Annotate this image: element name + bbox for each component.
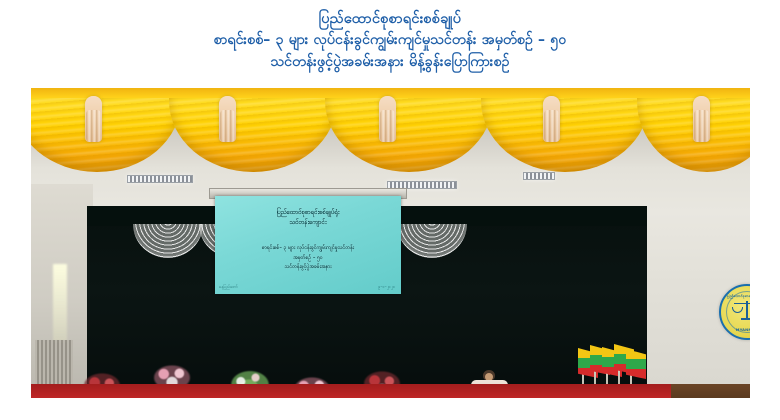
slide-title-line-1: ပြည်ထောင်စုစာရင်းစစ်ချုပ်ရုံး	[219, 208, 397, 218]
valance-swag-1	[31, 98, 181, 172]
page-title-block: ပြည်ထောင်စုစာရင်းစစ်ချုပ် စာရင်းစစ်– ၃ မ…	[0, 0, 780, 74]
slide-body: စာရင်းစစ်– ၃ များ လုပ်ငန်းခွင်ကျွမ်းကျင်…	[217, 244, 399, 273]
stage-side-step-1	[671, 384, 750, 398]
valance-rosette-2	[219, 96, 236, 142]
valance-rosette-4	[543, 96, 560, 142]
emblem-arc-bottom-text: MYANMAR	[721, 328, 750, 332]
myanmar-flag-5	[626, 349, 646, 379]
ceremony-photograph: ပြည်ထောင်စုစာရင်းစစ်ချုပ်ရုံး သင်တန်းကျေ…	[31, 88, 750, 398]
wall-radiator-unit	[35, 340, 73, 386]
window-light-glow	[53, 264, 67, 342]
slide-footer-location: နေပြည်တော်	[219, 284, 238, 290]
valance-rosette-1	[85, 96, 102, 142]
red-stage-carpet	[31, 384, 750, 398]
ceiling-light-fixture-1	[127, 175, 193, 183]
yellow-ceiling-valance	[31, 88, 750, 184]
page-title-line-3: သင်တန်းဖွင့်ပွဲအခမ်းအနား မိန့်ခွန်းပြောက…	[0, 52, 780, 74]
scale-post	[746, 301, 748, 319]
slide-title: ပြည်ထောင်စုစာရင်းစစ်ချုပ်ရုံး သင်တန်းကျေ…	[219, 208, 397, 228]
slide-footer-date: ၉–၁–၂၀၂၀	[378, 284, 395, 290]
slide-body-line-2: အမှတ်စဉ် – ၅၀	[217, 254, 399, 264]
valance-swag-4	[481, 98, 649, 172]
page-title-line-2: စာရင်းစစ်– ၃ များ လုပ်ငန်းခွင်ကျွမ်းကျင်…	[0, 30, 780, 52]
scale-base	[741, 318, 750, 320]
scales-of-justice-icon	[732, 299, 750, 321]
valance-rosette-5	[693, 96, 710, 142]
slide-body-line-1: စာရင်းစစ်– ၃ များ လုပ်ငန်းခွင်ကျွမ်းကျင်…	[217, 244, 399, 254]
lace-scallop	[397, 224, 467, 258]
scale-pan-left	[732, 307, 743, 313]
slide-title-line-2: သင်တန်းကျောင်း	[219, 218, 397, 228]
ceiling-light-fixture-3	[523, 172, 555, 180]
valance-swag-3	[325, 98, 493, 172]
slide-body-line-3: သင်တန်းဖွင့်ပွဲအခမ်းအနား	[217, 263, 399, 273]
valance-rosette-3	[379, 96, 396, 142]
page-title-line-1: ပြည်ထောင်စုစာရင်းစစ်ချုပ်	[0, 8, 780, 30]
projector-screen: ပြည်ထောင်စုစာရင်းစစ်ချုပ်ရုံး သင်တန်းကျေ…	[215, 196, 401, 294]
auditor-general-seal-emblem: ပြည်ထောင်စုစာရင်းစစ်ချုပ်ရုံး MYANMAR	[719, 284, 750, 340]
valance-swag-2	[169, 98, 337, 172]
lace-scallop	[133, 224, 203, 258]
